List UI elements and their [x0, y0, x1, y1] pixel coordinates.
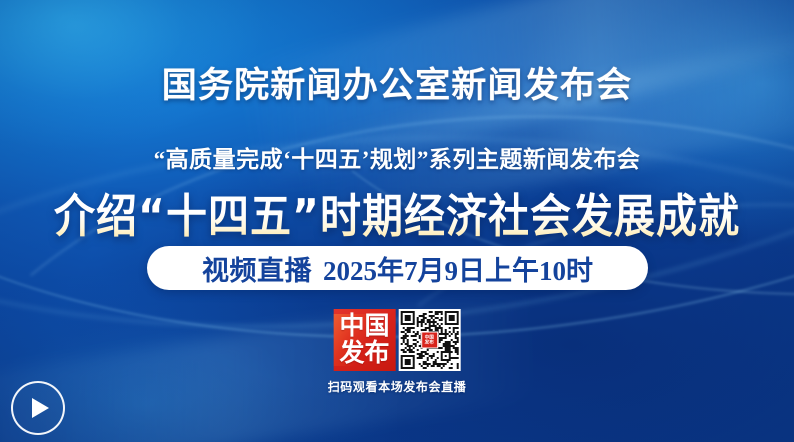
headline: 介绍“十四五”时期经济社会发展成就 — [0, 178, 794, 245]
live-broadcast-bar: 视频直播 2025年7月9日上午10时 — [147, 246, 648, 290]
qr-row: 中国 发布 中国 发布 — [333, 309, 460, 371]
page-title: 国务院新闻办公室新闻发布会 — [0, 57, 794, 108]
live-broadcast-label: 视频直播 — [202, 249, 312, 288]
qr-caption: 扫码观看本场发布会直播 — [328, 378, 467, 395]
qr-center-logo-line-bottom: 发布 — [425, 340, 434, 345]
series-subtitle: “高质量完成‘十四五’规划”系列主题新闻发布会 — [0, 140, 794, 174]
qr-block: 中国 发布 中国 发布 扫码观看本场发布会直播 — [328, 309, 467, 395]
play-icon — [32, 398, 49, 418]
live-broadcast-poster: 国务院新闻办公室新闻发布会 “高质量完成‘十四五’规划”系列主题新闻发布会 介绍… — [0, 0, 794, 442]
live-broadcast-datetime: 2025年7月9日上午10时 — [323, 249, 593, 288]
qr-center-logo-line-top: 中国 — [425, 335, 434, 340]
qr-center-logo: 中国 发布 — [421, 332, 438, 349]
brand-logo-line-bottom: 发布 — [339, 341, 389, 366]
qr-code[interactable]: 中国 发布 — [398, 309, 460, 371]
brand-logo-line-top: 中国 — [339, 314, 389, 339]
brand-logo: 中国 发布 — [333, 309, 395, 371]
play-button[interactable] — [11, 381, 65, 435]
